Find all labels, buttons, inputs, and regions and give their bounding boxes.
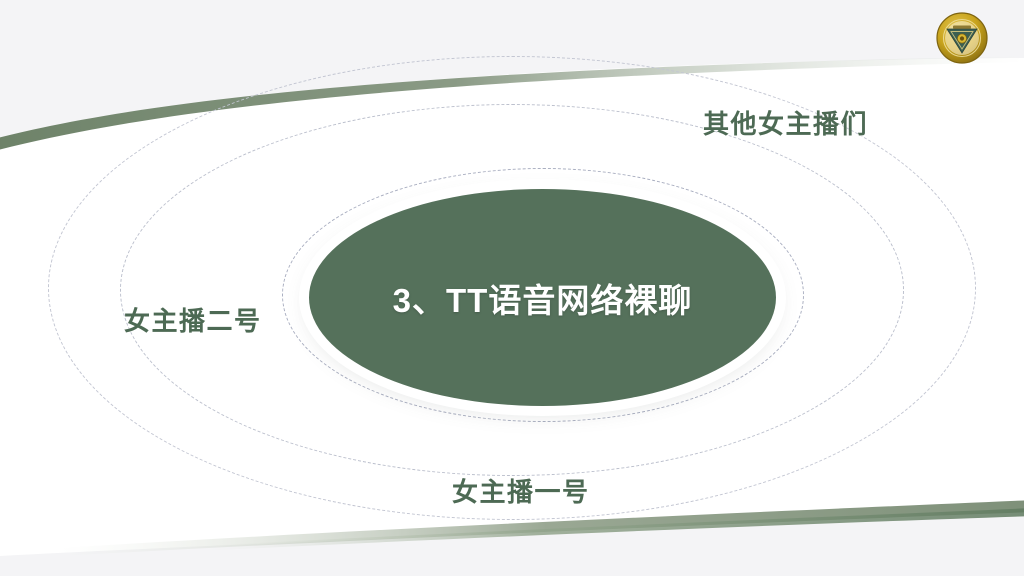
orbit-label-streamer-one: 女主播一号 — [452, 472, 590, 509]
police-emblem-badge-icon — [935, 11, 989, 65]
center-title: 3、TT语音网络裸聊 — [393, 274, 693, 322]
center-ellipse: 3、TT语音网络裸聊 — [309, 189, 776, 406]
orbit-label-streamer-two: 女主播二号 — [124, 301, 262, 338]
orbit-label-others: 其他女主播们 — [703, 104, 868, 141]
slide-canvas: 3、TT语音网络裸聊 其他女主播们 女主播二号 女主播一号 — [0, 0, 1024, 576]
